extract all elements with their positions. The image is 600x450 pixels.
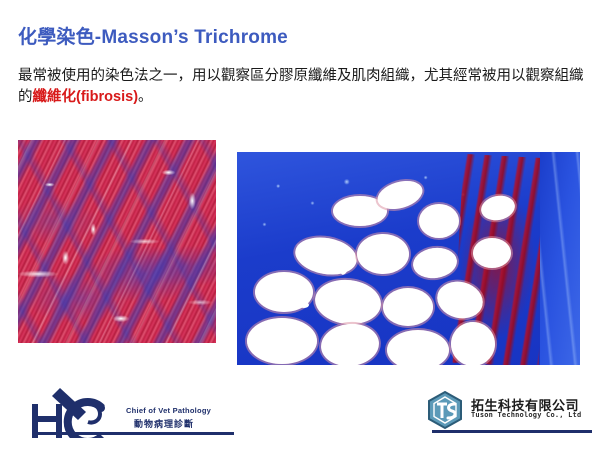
trabecula: [387, 330, 449, 365]
left-logo-english: Chief of Vet Pathology: [126, 406, 211, 415]
marrow-lacuna: [299, 302, 309, 308]
right-logo-rule: [432, 430, 592, 433]
micrograph-bone-trichrome: [237, 152, 580, 365]
micrograph-muscle-trichrome: [18, 140, 216, 343]
trabecula: [247, 318, 317, 364]
body-tail-text: 。: [138, 89, 153, 105]
fibrosis-highlight: 纖維化(fibrosis): [33, 89, 139, 105]
left-logo-rule: [38, 432, 234, 435]
trabecula: [357, 234, 409, 274]
marrow-lacuna: [405, 310, 411, 321]
page-title: 化學染色-Masson’s Trichrome: [18, 22, 288, 49]
left-logo-chinese: 動物病理診斷: [134, 417, 194, 430]
body-paragraph: 最常被使用的染色法之一，用以觀察區分膠原纖維及肌肉組織，尤其經常被用以觀察組織的…: [18, 66, 584, 108]
trabecula: [473, 238, 511, 268]
cortical-bone-layer: [540, 152, 580, 365]
chief-of-vet-pathology-logo: Chief of Vet Pathology 動物病理診斷: [30, 382, 240, 438]
right-logo-english: Tuson Technology Co., Ltd: [471, 411, 581, 419]
trabecula: [419, 204, 459, 238]
tuson-hexagon-icon: [425, 390, 465, 430]
